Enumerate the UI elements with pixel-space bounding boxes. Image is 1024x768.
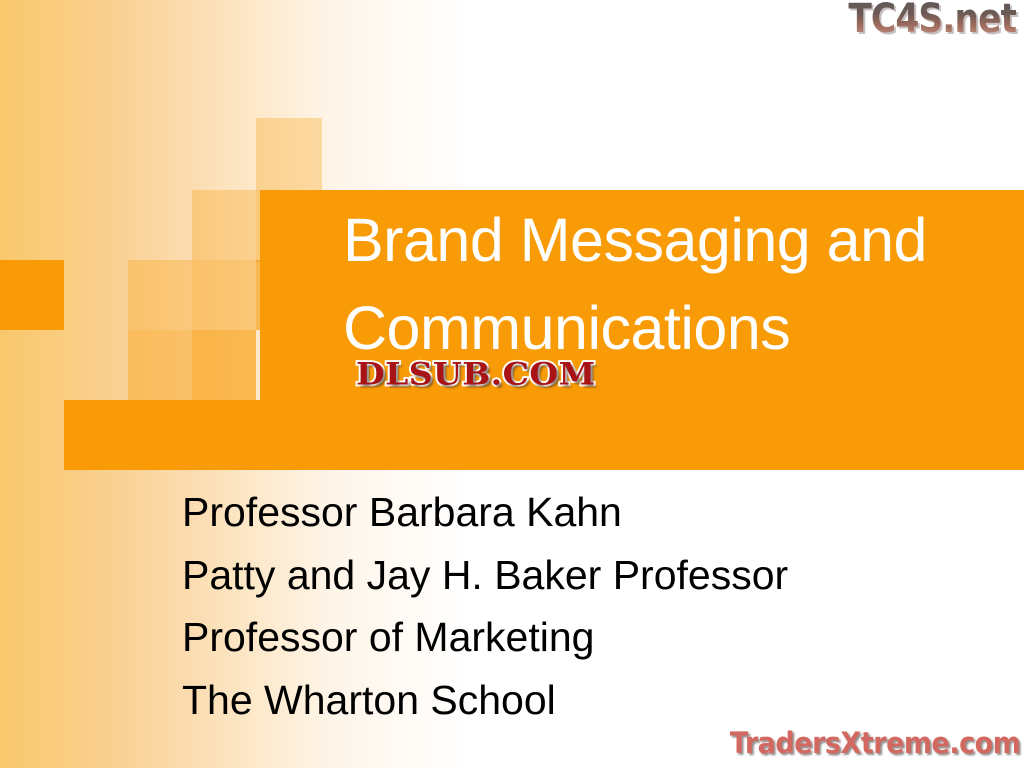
subtitle-line: Patty and Jay H. Baker Professor bbox=[182, 544, 972, 607]
slide-title: Brand Messaging and Communications bbox=[343, 196, 1023, 372]
title-band-lower bbox=[64, 400, 1024, 470]
watermark-tradersxtreme: TradersXtreme.com bbox=[729, 726, 1020, 760]
decorative-square bbox=[0, 260, 64, 330]
watermark-dlsub: DLSUB.COM bbox=[356, 356, 596, 393]
watermark-tc4s: TC4S.net bbox=[848, 0, 1016, 42]
subtitle-line: The Wharton School bbox=[182, 669, 972, 732]
presentation-slide: Brand Messaging and Communications Profe… bbox=[0, 0, 1024, 768]
decorative-square bbox=[128, 330, 192, 400]
decorative-square bbox=[192, 190, 256, 260]
slide-subtitle: Professor Barbara Kahn Patty and Jay H. … bbox=[182, 481, 972, 731]
decorative-square bbox=[128, 260, 192, 330]
subtitle-line: Professor of Marketing bbox=[182, 606, 972, 669]
decorative-square bbox=[256, 118, 322, 190]
subtitle-line: Professor Barbara Kahn bbox=[182, 481, 972, 544]
decorative-square bbox=[192, 330, 256, 400]
decorative-square bbox=[192, 260, 256, 330]
